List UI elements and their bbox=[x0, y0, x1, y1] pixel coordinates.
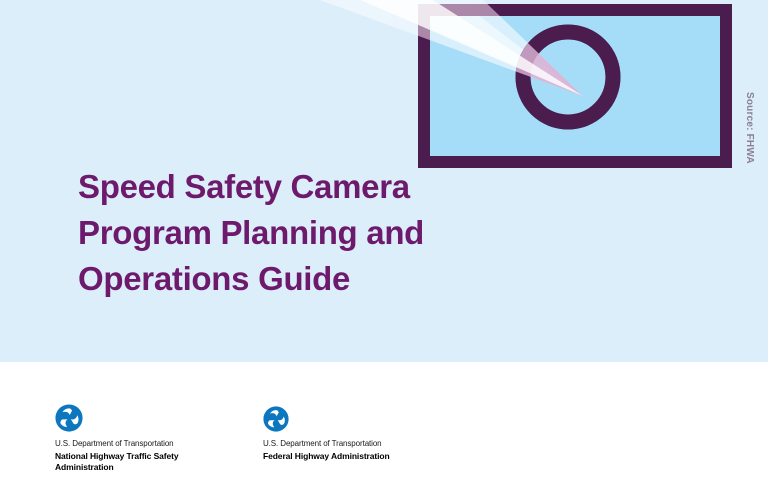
page-title-line-3: Operations Guide bbox=[78, 256, 508, 302]
agency-block-nhtsa: U.S. Department of Transportation Nation… bbox=[55, 404, 205, 472]
agency-department-nhtsa: U.S. Department of Transportation bbox=[55, 438, 205, 449]
agency-name-nhtsa: National Highway Traffic Safety Administ… bbox=[55, 451, 205, 472]
agency-department-fhwa: U.S. Department of Transportation bbox=[263, 438, 390, 449]
page-title-line-1: Speed Safety Camera bbox=[78, 164, 508, 210]
agency-block-fhwa: U.S. Department of Transportation Federa… bbox=[263, 406, 390, 462]
source-credit: Source: FHWA bbox=[742, 92, 756, 192]
dot-triskelion-seal-icon bbox=[55, 404, 83, 432]
page-title: Speed Safety Camera Program Planning and… bbox=[78, 164, 508, 302]
agency-name-fhwa: Federal Highway Administration bbox=[263, 451, 390, 462]
hero-band: Source: FHWA Speed Safety Camera Program… bbox=[0, 0, 768, 362]
cover-page: Source: FHWA Speed Safety Camera Program… bbox=[0, 0, 768, 492]
dot-triskelion-seal-icon bbox=[263, 406, 289, 432]
page-title-line-2: Program Planning and bbox=[78, 210, 508, 256]
